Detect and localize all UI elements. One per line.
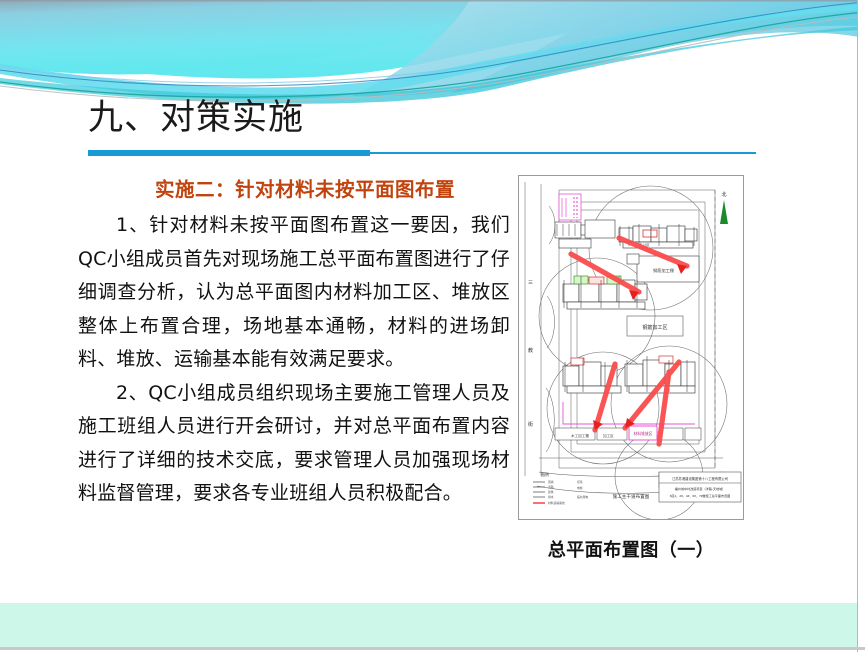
- footer-band: [0, 603, 858, 647]
- svg-text:加工区: 加工区: [603, 433, 614, 438]
- body-paragraph-2: 2、QC小组成员组织现场主要施工管理人员及施工班组人员进行开会研讨，并对总平面布…: [78, 377, 510, 511]
- svg-text:街: 街: [528, 421, 533, 428]
- svg-text:材料堆放区: 材料堆放区: [634, 431, 653, 436]
- svg-text:教: 教: [528, 347, 533, 354]
- svg-text:钢筋加工棚: 钢筋加工棚: [653, 267, 674, 274]
- slide-canvas: 九、对策实施 实施二：针对材料未按平面图布置 1、针对材料未按平面图布置这一要因…: [0, 0, 865, 652]
- figure-caption: 总平面布置图（一）: [518, 536, 744, 562]
- page-title: 九、对策实施: [88, 96, 304, 141]
- svg-text:材料运输路线: 材料运输路线: [548, 501, 565, 505]
- svg-text:图例: 图例: [541, 471, 549, 477]
- title-underline-rule: [88, 150, 756, 156]
- title-rule-thick: [88, 150, 370, 156]
- svg-text:电梯: 电梯: [577, 486, 583, 490]
- svg-text:福州城中村改造项目（洋路-天地城）: 福州城中村改造项目（洋路-天地城）: [675, 486, 726, 491]
- svg-text:塔吊: 塔吊: [577, 480, 583, 484]
- svg-text:三: 三: [528, 280, 533, 286]
- header-wave-decoration: [0, 0, 865, 105]
- svg-text:建筑: 建筑: [548, 490, 554, 494]
- svg-text:木工加工棚: 木工加工棚: [571, 433, 589, 438]
- body-text-column: 实施二：针对材料未按平面图布置 1、针对材料未按平面图布置这一要因，我们QC小组…: [78, 176, 510, 511]
- svg-text:6区4、2#、4#、6#、7#楼施工总平面布置图: 6区4、2#、4#、6#、7#楼施工总平面布置图: [670, 493, 731, 498]
- figure-block: 钢筋加工棚 办公区: [518, 175, 744, 562]
- body-paragraph-1: 1、针对材料未按平面图布置这一要因，我们QC小组成员首先对现场施工总平面布置图进…: [78, 209, 510, 377]
- figure-zone-label: 钢筋加工区: [642, 324, 667, 331]
- slide-right-gutter: [858, 0, 865, 652]
- svg-text:道路: 道路: [548, 485, 554, 489]
- svg-text:临时用电: 临时用电: [577, 495, 588, 499]
- svg-text:北: 北: [721, 191, 726, 198]
- svg-text:排水: 排水: [548, 495, 554, 499]
- title-rule-thin: [370, 152, 756, 154]
- site-plan-image[interactable]: 钢筋加工棚 办公区: [518, 175, 744, 520]
- slide-frame-bottom: [0, 647, 865, 650]
- svg-text:围墙: 围墙: [548, 480, 554, 484]
- sub-heading: 实施二：针对材料未按平面图布置: [78, 176, 510, 204]
- figure-road-label: 施工主干道布置图: [613, 493, 650, 500]
- svg-text:江苏苏港建设集团第十八工程有限公司: 江苏苏港建设集团第十八工程有限公司: [672, 476, 728, 481]
- figure-title-block: 江苏苏港建设集团第十八工程有限公司 福州城中村改造项目（洋路-天地城） 6区4、…: [659, 472, 741, 502]
